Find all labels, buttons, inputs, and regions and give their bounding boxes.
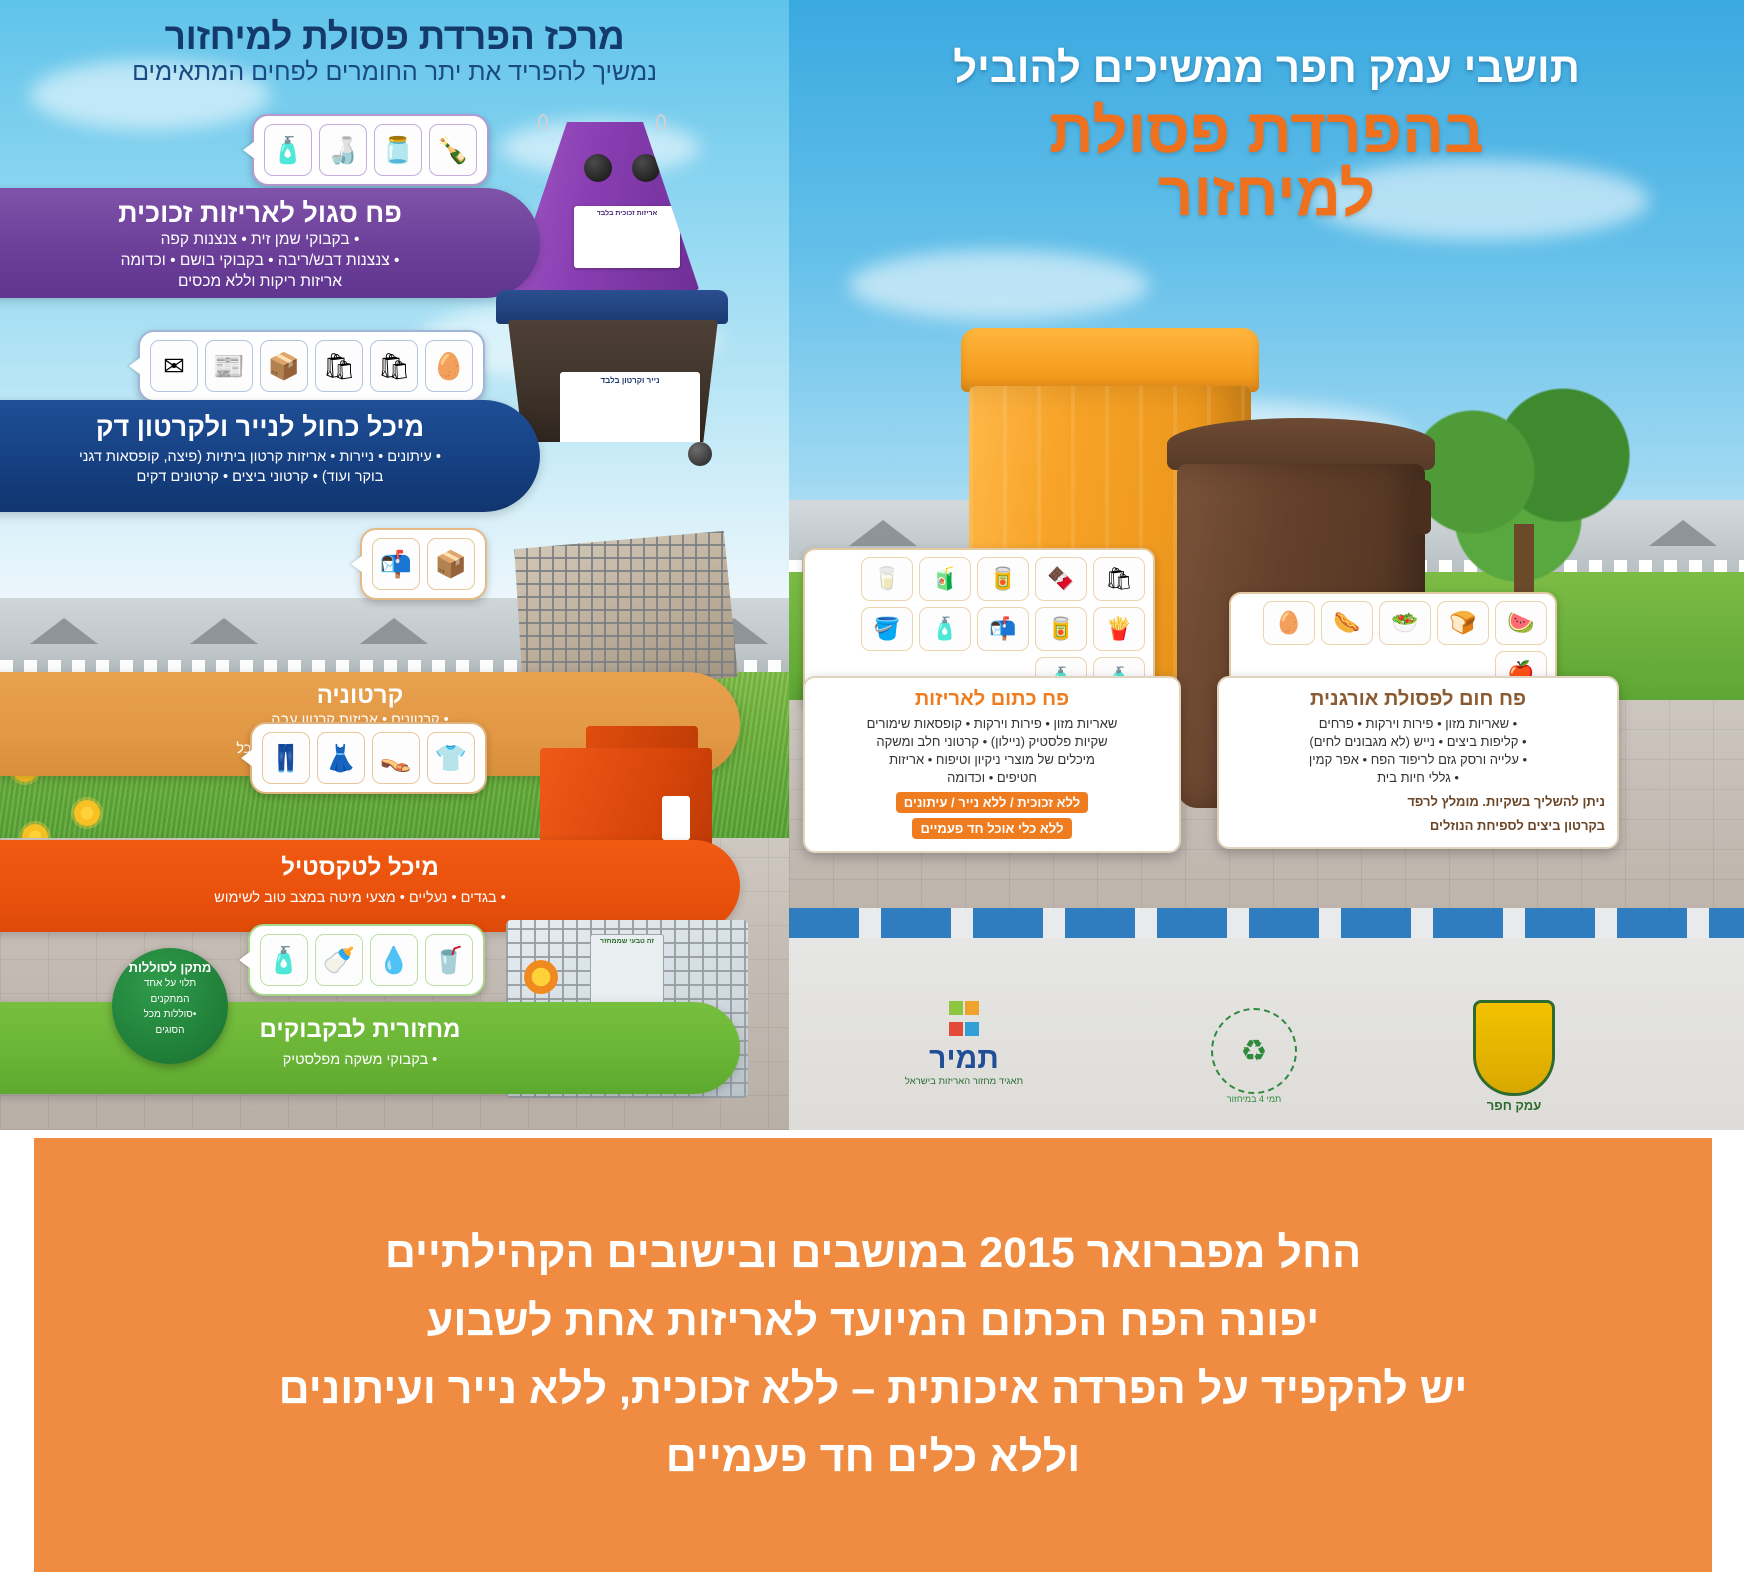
- banner-line-3: יש להקפיד על הפרדה איכותית – ללא זכוכית,…: [279, 1358, 1468, 1420]
- salad-icon: 🥗: [1379, 601, 1431, 645]
- recycling-poster: מרכז הפרדת פסולת למיחזור נמשיך להפריד את…: [0, 0, 1744, 1592]
- shoes-icon: 👡: [372, 732, 420, 784]
- left-subtitle: נמשיך להפריד את יתר החומרים לפחים המתאימ…: [24, 58, 765, 87]
- tamir-logo-name: תמיר: [849, 1042, 1079, 1076]
- tamir-logo: תמיר תאגיד מחזור האריזות בישראל: [849, 1000, 1079, 1087]
- jar-icon: 🫙: [374, 124, 422, 176]
- brown-card-note-2: בקרטון ביצים לספיחת הנוזלים: [1231, 817, 1605, 835]
- cloud-decoration: [849, 250, 1149, 320]
- headline-line-2: בהפרדת פסולת: [789, 96, 1744, 167]
- box-icon: 📦: [427, 538, 475, 590]
- greenbottle-icon: 🥤: [425, 934, 473, 986]
- glass-line-3: אריזות ריקות וללא מכסים: [0, 271, 540, 292]
- paper-line-2: בוקר ועוד) • קרטוני ביצים • קרטונים דקים: [0, 467, 540, 487]
- battery-badge-line-2: המתקנים: [112, 994, 228, 1007]
- paper-section-band: מיכל כחול לנייר ולקרטון דק • עיתונים • נ…: [0, 400, 540, 512]
- battery-collection-badge: מתקן לסוללות תלוי על אחד המתקנים •סוללות…: [112, 948, 228, 1064]
- headline-line-3: למיחזור: [789, 159, 1744, 230]
- green-seal-logo: ♻ תמי 4 במיחזור: [1179, 1008, 1329, 1104]
- left-panel: מרכז הפרדת פסולת למיחזור נמשיך להפריד את…: [0, 0, 789, 1130]
- egg-icon: 🥚: [1263, 601, 1315, 645]
- crest-icon: [1473, 1000, 1555, 1096]
- clothes-icon: 👕: [427, 732, 475, 784]
- banner-line-4: וללא כלים חד פעמיים: [666, 1426, 1081, 1488]
- headline-line-1: תושבי עמק חפר ממשיכים להוביל: [789, 44, 1744, 92]
- orange-card-line-1: שאריות מזון • פירות וירקות • קופסאות שימ…: [817, 715, 1167, 733]
- cerealbox-icon: 📦: [260, 340, 308, 392]
- paper-line-1: • עיתונים • ניירות • אריזות קרטון ביתיות…: [0, 447, 540, 467]
- bottle-icon: 🍾: [429, 124, 477, 176]
- orange-card-title: פח כתום לאריזות: [817, 688, 1167, 711]
- redcontainer-icon: 🧃: [919, 557, 971, 601]
- orange-card-line-2: שקיות פלסטיק (ניילון) • קרטוני חלב ומשקה: [817, 733, 1167, 751]
- bluebag-icon: 🛍: [1093, 557, 1145, 601]
- bread-icon: 🍞: [1437, 601, 1489, 645]
- spray-icon: 🧴: [919, 607, 971, 651]
- battery-badge-line-3: •סוללות מכל: [112, 1009, 228, 1022]
- paper-title: מיכל כחול לנייר ולקרטון דק: [0, 412, 540, 443]
- dress-icon: 👗: [317, 732, 365, 784]
- eggcarton-icon: 🥚: [425, 340, 473, 392]
- can-icon: 🥫: [977, 557, 1029, 601]
- jeans-icon: 👖: [262, 732, 310, 784]
- bottle-item-chips: 🥤 💧 🍼 🧴: [248, 924, 485, 996]
- openbox-icon: 📬: [977, 607, 1029, 651]
- green-seal-caption: תמי 4 במיחזור: [1179, 1094, 1329, 1104]
- brown-card-line-2: • קליפות ביצים • נייש (לא מגבונים לחים): [1231, 733, 1605, 751]
- orange-card-warning-2: ללא כלי אוכל חד פעמיים: [912, 818, 1071, 839]
- paperbag-icon: 🛍: [315, 340, 363, 392]
- bucket-icon: 🪣: [861, 607, 913, 651]
- bottom-banner: החל מפברואר 2015 במושבים ובישובים הקהילת…: [32, 1136, 1714, 1574]
- textile-item-chips: 👕 👡 👗 👖: [250, 722, 487, 794]
- tamir-logo-tagline: תאגיד מחזור האריזות בישראל: [849, 1076, 1079, 1087]
- glass-item-chips: 🍾 🫙 🍶 🧴: [252, 114, 489, 186]
- orange-card-line-3: מיכלים של מוצרי ניקיון וטיפוח • אריזות: [817, 751, 1167, 769]
- glass-line-1: • בקבוקי שמן זית • צנצנות קפה: [0, 229, 540, 250]
- tin-icon: 🥫: [1035, 607, 1087, 651]
- glass-line-2: • צנצנות דבש/ריבה • בקבוקי בושם • וכדומה: [0, 250, 540, 271]
- curb-stripe: [789, 908, 1744, 938]
- brown-bin-info-card: פח חום לפסולת אורגנית • שאריות מזון • פי…: [1217, 676, 1619, 849]
- newspaper-icon: 📰: [205, 340, 253, 392]
- chips-icon: 🍟: [1093, 607, 1145, 651]
- tamir-logo-mark: [849, 1000, 1079, 1042]
- wine-icon: 🍶: [319, 124, 367, 176]
- flower-decoration: [74, 800, 100, 826]
- city-crest-logo: עמק חפר: [1429, 1000, 1599, 1113]
- perfume-icon: 🧴: [264, 124, 312, 176]
- paperbag-icon: 🛍: [370, 340, 418, 392]
- textile-section-band: מיכל לטקסטיל • בגדים • נעליים • מצעי מיט…: [0, 840, 740, 932]
- milk-icon: 🥛: [861, 557, 913, 601]
- brown-card-note-1: ניתן להשליך בשקיות. מומלץ לרפד: [1231, 793, 1605, 811]
- brown-card-title: פח חום לפסולת אורגנית: [1231, 688, 1605, 711]
- brown-card-line-4: • גללי חיות בית: [1231, 769, 1605, 787]
- snack-icon: 🍫: [1035, 557, 1087, 601]
- glass-section-band: פח סגול לאריזות זכוכית • בקבוקי שמן זית …: [0, 188, 540, 298]
- battery-badge-line-1: תלוי על אחד: [112, 978, 228, 991]
- envelope-icon: ✉: [150, 340, 198, 392]
- right-panel: תושבי עמק חפר ממשיכים להוביל בהפרדת פסול…: [789, 0, 1744, 1130]
- openbox-icon: 📬: [372, 538, 420, 590]
- orange-card-line-4: חטיפים • וכדומה: [817, 769, 1167, 787]
- carton-item-chips: 📦 📬: [360, 528, 487, 600]
- banner-line-1: החל מפברואר 2015 במושבים ובישובים הקהילת…: [385, 1222, 1361, 1284]
- clearbottle-icon: 🍼: [315, 934, 363, 986]
- battery-badge-title: מתקן לסוללות: [112, 960, 228, 975]
- glass-bin-label: אריזות זכוכית בלבד: [574, 206, 680, 268]
- bottle-section-band: מחזורית לבקבוקים • בקבוקי משקה מפלסטיק: [0, 1002, 740, 1094]
- glass-title: פח סגול לאריזות זכוכית: [0, 198, 540, 229]
- tree-decoration: [1398, 388, 1648, 598]
- bluebottle-icon: 💧: [370, 934, 418, 986]
- right-headline: תושבי עמק חפר ממשיכים להוביל בהפרדת פסול…: [789, 44, 1744, 230]
- whitebottle-icon: 🧴: [260, 934, 308, 986]
- bottle-line-1: • בקבוקי משקה מפלסטיק: [0, 1050, 740, 1070]
- textile-title: מיכל לטקסטיל: [0, 854, 740, 882]
- recycle-icon: ♻: [1211, 1008, 1297, 1094]
- bottle-title: מחזורית לבקבוקים: [0, 1016, 740, 1044]
- paper-item-chips: 🥚 🛍 🛍 📦 📰 ✉: [138, 330, 485, 402]
- watermelon-icon: 🍉: [1495, 601, 1547, 645]
- logos-row: תמיר תאגיד מחזור האריזות בישראל ♻ תמי 4 …: [789, 1000, 1744, 1110]
- sausage-icon: 🌭: [1321, 601, 1373, 645]
- left-title: מרכז הפרדת פסולת למיחזור: [24, 16, 765, 58]
- city-logo-name: עמק חפר: [1429, 1098, 1599, 1113]
- brown-card-line-1: • שאריות מזון • פירות וירקות • פרחים: [1231, 715, 1605, 733]
- orange-bin-info-card: פח כתום לאריזות שאריות מזון • פירות וירק…: [803, 676, 1181, 853]
- brown-card-line-3: • עלייה ורסק גזם לריפוד הפח • אפר קמין: [1231, 751, 1605, 769]
- carton-title: קרטוניה: [0, 682, 740, 710]
- banner-line-2: יפונה הפח הכתום המיועד לאריזות אחת לשבוע: [427, 1290, 1319, 1352]
- textile-line-1: • בגדים • נעליים • מצעי מיטה במצב טוב לש…: [0, 888, 740, 908]
- battery-badge-line-4: הסוגים: [112, 1025, 228, 1038]
- paper-bin-label: נייר וקרטון בלבד: [560, 372, 700, 450]
- orange-card-warning-1: ללא זכוכית / ללא נייר / עיתונים: [896, 792, 1088, 813]
